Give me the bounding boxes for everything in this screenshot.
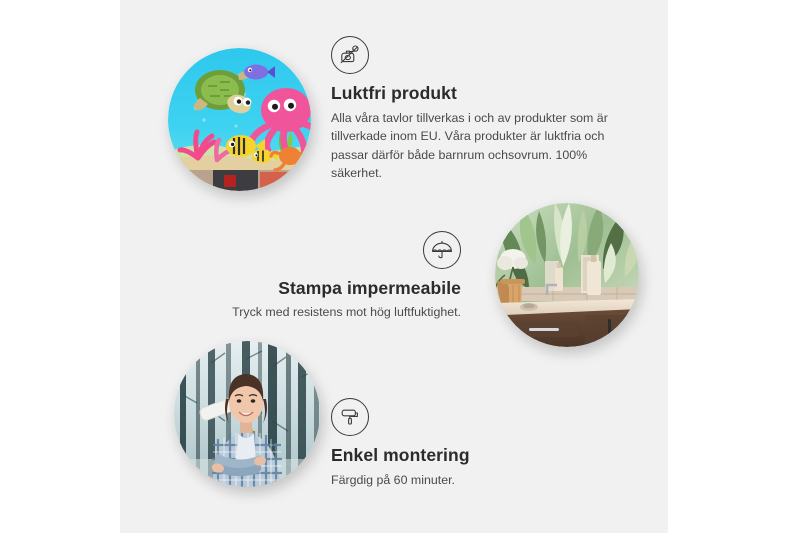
feature-block-waterproof-print: Stampa impermeabile Tryck med resistens …	[196, 231, 461, 321]
icon-wrap-odor-free	[331, 36, 621, 74]
feature-description-odor-free: Alla våra tavlor tillverkas i och av pro…	[331, 109, 621, 182]
feature-title-easy-mounting: Enkel montering	[331, 445, 611, 467]
no-odor-perfume-icon	[331, 36, 369, 74]
feature-title-odor-free: Luktfri produkt	[331, 83, 621, 105]
feature-description-easy-mounting: Färgdig på 60 minuter.	[331, 471, 611, 489]
underwater-cartoon-mural-photo	[168, 48, 311, 191]
umbrella-icon	[423, 231, 461, 269]
feature-block-odor-free: Luktfri produkt Alla våra tavlor tillver…	[331, 36, 621, 182]
icon-wrap-waterproof	[196, 231, 461, 269]
feature-block-easy-mounting: Enkel montering Färgdig på 60 minuter.	[331, 398, 611, 489]
bathroom-tropical-wallpaper-photo	[495, 203, 639, 347]
woman-paint-roller-forest-photo	[174, 341, 320, 487]
feature-title-waterproof-print: Stampa impermeabile	[196, 278, 461, 300]
paint-roller-icon	[331, 398, 369, 436]
icon-wrap-easy-mounting	[331, 398, 611, 436]
promo-infographic: Luktfri produkt Alla våra tavlor tillver…	[0, 0, 800, 533]
feature-description-waterproof-print: Tryck med resistens mot hög luftfuktighe…	[196, 303, 461, 321]
